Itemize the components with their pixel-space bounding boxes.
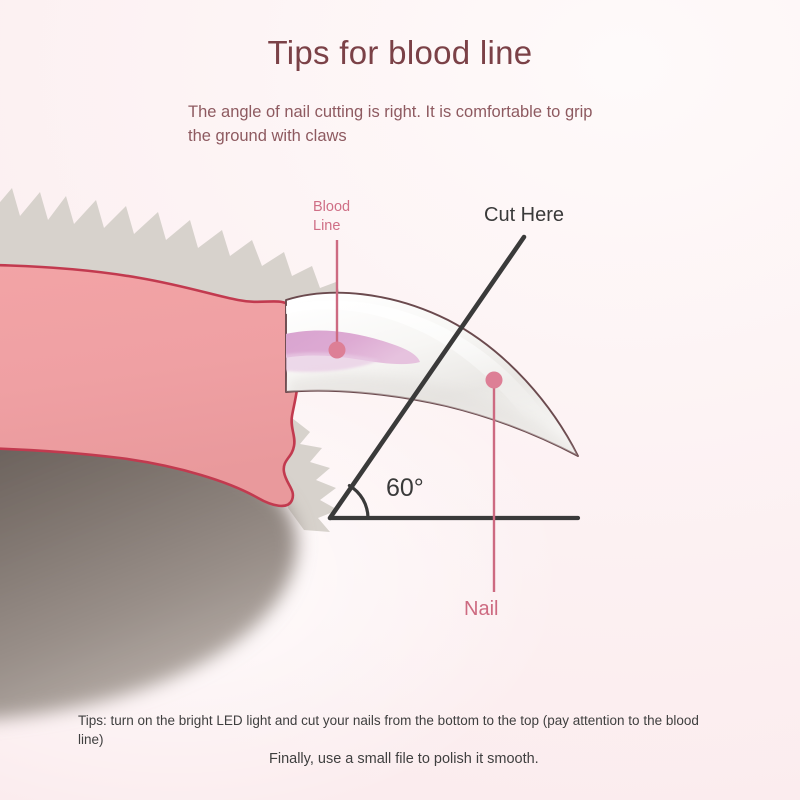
angle-arc xyxy=(349,486,368,518)
tips-final-text: Finally, use a small file to polish it s… xyxy=(269,749,599,770)
nail-marker-dot xyxy=(486,372,503,389)
page-subtitle: The angle of nail cutting is right. It i… xyxy=(188,100,618,148)
tips-main-text: Tips: turn on the bright LED light and c… xyxy=(78,711,718,749)
label-angle-60-degrees: 60° xyxy=(386,474,424,503)
label-cut-here: Cut Here xyxy=(484,204,564,227)
blood-line-marker-dot xyxy=(329,342,346,359)
infographic-page: Tips for blood line The angle of nail cu… xyxy=(0,0,800,800)
page-title: Tips for blood line xyxy=(0,34,800,72)
label-nail: Nail xyxy=(464,598,498,621)
label-blood-line: Blood Line xyxy=(313,198,350,235)
claw xyxy=(276,293,580,470)
